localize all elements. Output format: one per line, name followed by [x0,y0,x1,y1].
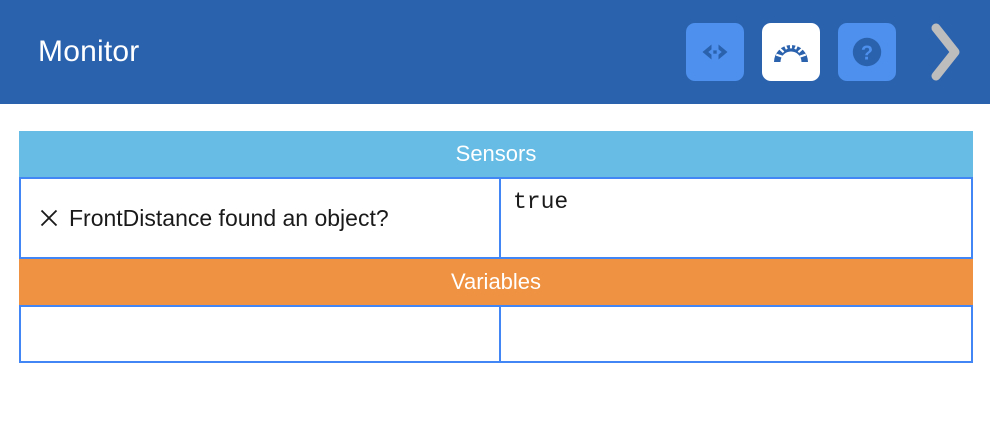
sensor-value-cell: true [501,179,971,257]
table-row: FrontDistance found an object? true [19,177,973,259]
close-icon[interactable] [35,207,63,229]
chevron-right-icon [923,16,967,88]
app-bar: Monitor [0,0,990,104]
gauge-icon [771,35,811,69]
variables-section-title: Variables [451,269,541,295]
collapse-panel-button[interactable] [918,16,972,88]
sensors-section-title: Sensors [456,141,537,167]
sensor-name-label: FrontDistance found an object? [69,204,389,232]
monitor-tables: Sensors FrontDistance found an object? t… [19,131,973,363]
table-row [19,305,973,363]
variables-section-header: Variables [19,259,973,305]
variable-value-cell [501,307,971,361]
question-mark-icon: ? [848,33,886,71]
code-view-button[interactable] [686,23,744,81]
sensor-name-cell: FrontDistance found an object? [21,179,501,257]
monitor-view-button[interactable] [762,23,820,81]
appbar-actions: ? [686,16,972,88]
sensor-value-text: true [513,189,568,217]
variable-name-cell [21,307,501,361]
page-title: Monitor [38,37,139,67]
help-button[interactable]: ? [838,23,896,81]
code-icon [698,35,732,69]
sensors-section-header: Sensors [19,131,973,177]
svg-text:?: ? [861,43,873,65]
